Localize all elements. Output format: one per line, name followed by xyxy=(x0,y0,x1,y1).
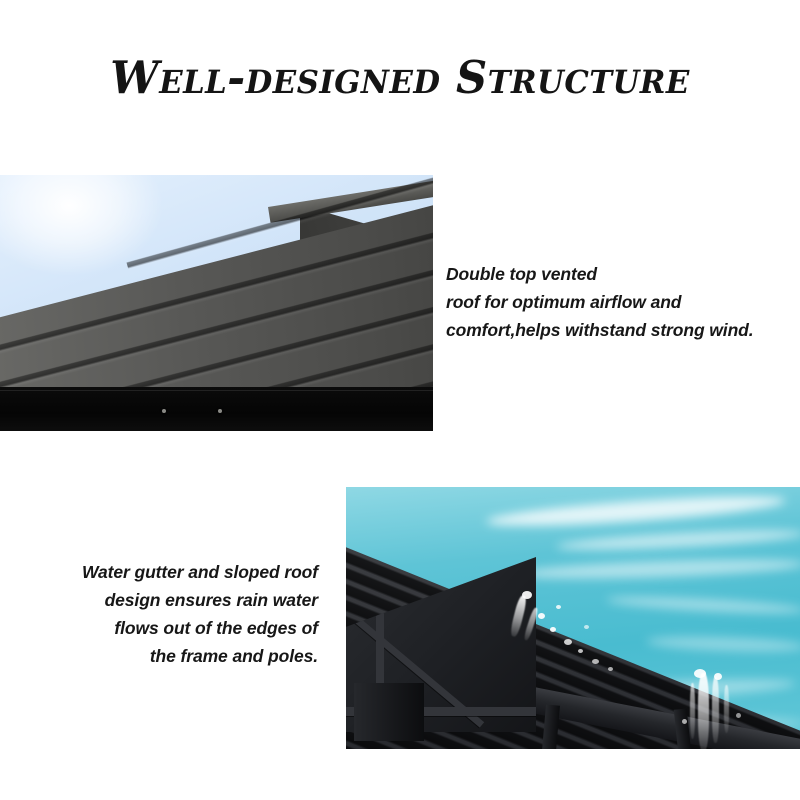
roof-frame-bar xyxy=(0,387,433,431)
caption-line: the frame and poles. xyxy=(38,642,318,670)
support-post xyxy=(354,683,424,741)
screw-icon xyxy=(162,409,166,413)
caption-line: roof for optimum airflow and xyxy=(446,288,791,316)
caption-line: flows out of the edges of xyxy=(38,614,318,642)
caption-double-top-vented-roof: Double top vented roof for optimum airfl… xyxy=(446,260,791,344)
caption-line: comfort,helps withstand strong wind. xyxy=(446,316,791,344)
caption-line: design ensures rain water xyxy=(38,586,318,614)
caption-water-gutter-sloped-roof: Water gutter and sloped roof design ensu… xyxy=(38,558,318,670)
caption-line: Double top vented xyxy=(446,260,791,288)
caption-line: Water gutter and sloped roof xyxy=(38,558,318,586)
page-title: Well-designed Structure xyxy=(16,52,784,104)
gazebo-water-gutter-photo xyxy=(346,487,800,749)
gazebo-double-top-roof-photo xyxy=(0,175,433,431)
screw-icon xyxy=(218,409,222,413)
